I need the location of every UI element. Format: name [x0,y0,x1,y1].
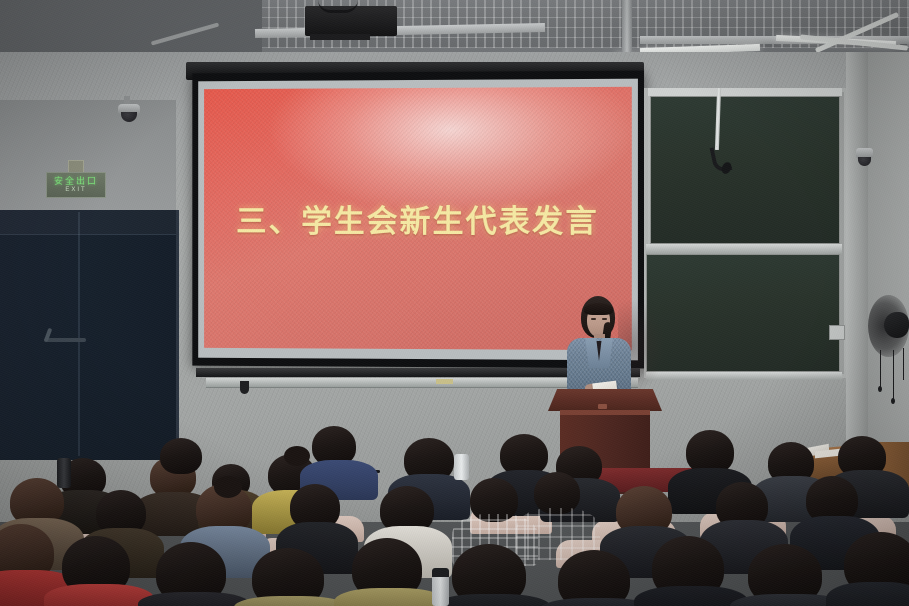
audience-head [160,438,202,474]
screen-pull-knob[interactable] [240,381,249,394]
blackboard-bottom-rail [646,372,842,380]
speaker-fringe [584,303,613,315]
blackboard-panel-lower [646,254,840,372]
fan-cord-weight [891,398,895,404]
lecture-hall-photo: 安全出口 EXIT 三、学生会新生代表发言 [0,0,909,606]
water-bottle[interactable] [454,454,469,480]
audience-shoulders [826,582,909,606]
speaker-eye [591,318,596,320]
hair-bun [284,446,310,466]
fan-pull-cord[interactable] [880,350,881,388]
water-bottle[interactable] [432,574,449,606]
audience-shoulders [434,594,550,606]
slide-title: 三、学生会新生代表发言 [204,196,632,241]
seated-audience [0,420,909,606]
bottle-cap [432,568,449,577]
blackboard-middle-rail [646,244,842,254]
exit-sign: 安全出口 EXIT [46,172,106,198]
water-bottle[interactable] [57,458,71,488]
camera-mount-pole [622,0,632,58]
projector-lens [310,34,370,40]
wall-fan-hub [884,312,909,338]
podium-notch [598,404,607,409]
ledge-clip [436,379,453,384]
speaker-eye [602,318,607,320]
door-top-panel [0,210,176,235]
door-handle[interactable] [44,338,86,342]
blackboard-top-rail [648,88,842,96]
blackboard-panel-upper [650,96,840,244]
fan-pull-cord[interactable] [893,350,894,400]
exit-sign-label-cn: 安全出口 [54,177,98,187]
exit-sign-label-en: EXIT [65,187,86,194]
audience-shoulders [138,592,250,606]
podium-edge [560,410,650,415]
fan-pull-cord[interactable] [903,348,904,380]
audience-shoulders [334,588,446,606]
audience-shoulders [234,596,348,606]
hair-bun [214,476,242,498]
wall-outlet[interactable] [829,325,845,340]
fan-cord-weight [878,386,882,392]
